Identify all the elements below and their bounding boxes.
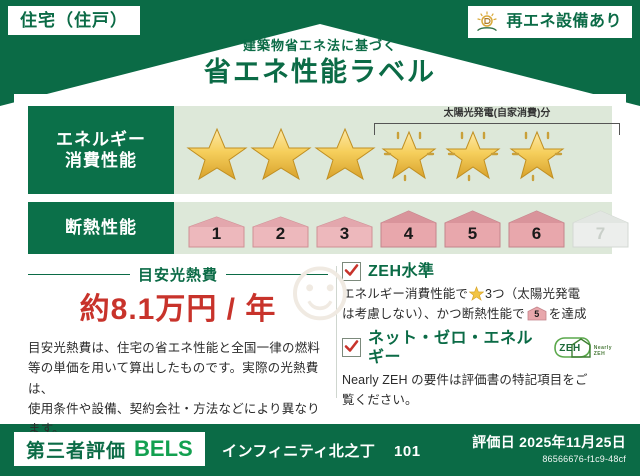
property-number: 101 (394, 443, 421, 460)
category-tag: 住宅（住戸） (8, 6, 140, 35)
label-lower-section: 目安光熱費 約8.1万円 / 年 目安光熱費は、住宅の省エネ性能と全国一律の燃料… (28, 262, 612, 406)
zeh-body-part-a: エネルギー消費性能で (342, 287, 468, 301)
insulation-level-5: 5 (442, 207, 503, 249)
cost-note-line-1: 目安光熱費は、住宅の省エネ性能と全国一律の燃料 (28, 338, 328, 358)
zeh-standard-label: ZEH水準 (368, 262, 435, 281)
insulation-level-1: 1 (186, 213, 247, 249)
energy-key-line1: エネルギー (56, 129, 146, 150)
page-title: 省エネ性能ラベル (0, 56, 640, 90)
sun-solar-icon (474, 11, 500, 33)
energy-performance-label: 住宅（住戸） 再エネ設備あり 建築物省エネ法に基づく 省エネ性能ラベル ☺ エネ… (0, 0, 640, 476)
renewable-equipment-badge: 再エネ設備あり (468, 6, 632, 38)
insulation-level-number: 2 (250, 224, 311, 244)
insulation-level-7: 7 (570, 207, 631, 249)
utility-cost-title: 目安光熱費 (138, 264, 218, 285)
zeh-logo-subtext: Nearly ZEH (594, 346, 612, 360)
bels-jp-label: 第三者評価 (26, 436, 126, 463)
zeh-section: ZEH水準 エネルギー消費性能で3つ（太陽光発電 は考慮しない）、かつ断熱性能で… (328, 262, 612, 406)
zeh-body-part-b: 3つ（太陽光発電 (485, 287, 580, 301)
insulation-level-2: 2 (250, 213, 311, 249)
solar-portion-bracket: 太陽光発電(自家消費)分 (372, 108, 622, 136)
net-zero-body: Nearly ZEH の要件は評価書の特記項目をご 覧ください。 (342, 370, 612, 411)
insulation-level-6: 6 (506, 207, 567, 249)
star-icon (314, 123, 376, 183)
zeh-logo-sub-line2: ZEH (594, 351, 606, 357)
energy-key-line2: 消費性能 (65, 150, 137, 171)
zeh-standard-body: エネルギー消費性能で3つ（太陽光発電 は考慮しない）、かつ断熱性能で5を達成 (342, 284, 612, 325)
zeh-standard-title-row: ZEH水準 (342, 262, 612, 281)
label-card: ☺ エネルギー 消費性能 (14, 94, 626, 416)
energy-performance-row: エネルギー 消費性能 (28, 106, 612, 194)
utility-cost-heading: 目安光熱費 (28, 264, 328, 285)
property-name: インフィニティ北之丁 (222, 443, 375, 460)
net-zero-energy-block: ネット・ゼロ・エネルギー ZEH Nearly ZEH (342, 329, 612, 411)
solar-bracket-label: 太陽光発電(自家消費)分 (372, 108, 622, 119)
label-title-group: 建築物省エネ法に基づく 省エネ性能ラベル (0, 38, 640, 89)
net-zero-body-line-2: 覧ください。 (342, 390, 612, 410)
insulation-level-scale: 1 2 3 4 (174, 207, 631, 249)
rule-left-decoration (28, 274, 130, 275)
insulation-level-number: 5 (442, 224, 503, 244)
bracket-line-decoration (374, 123, 620, 135)
svg-text:ZEH: ZEH (559, 343, 581, 354)
insulation-performance-row: 断熱性能 1 2 3 (28, 202, 612, 254)
net-zero-label: ネット・ゼロ・エネルギー (368, 329, 541, 367)
title-subtitle: 建築物省エネ法に基づく (0, 38, 640, 54)
bels-badge: 第三者評価 BELS (14, 432, 205, 466)
star-icon (469, 286, 484, 301)
zeh-logo-icon: ZEH Nearly ZEH (551, 336, 612, 360)
cost-note-line-2: 等の単価を用いて算出したものです。実際の光熱費は、 (28, 358, 328, 399)
insulation-level-4: 4 (378, 207, 439, 249)
net-zero-body-line-1: Nearly ZEH の要件は評価書の特記項目をご (342, 370, 612, 390)
bels-en-label: BELS (134, 436, 193, 462)
insulation-level-3: 3 (314, 213, 375, 249)
star-icon (250, 123, 312, 183)
insulation-level-number: 6 (506, 224, 567, 244)
utility-cost-value: 約8.1万円 / 年 (28, 293, 328, 326)
utility-cost-section: 目安光熱費 約8.1万円 / 年 目安光熱費は、住宅の省エネ性能と全国一律の燃料… (28, 262, 328, 406)
energy-performance-value: 太陽光発電(自家消費)分 (174, 106, 612, 194)
insulation-level-number: 3 (314, 224, 375, 244)
evaluation-info: 評価日 2025年11月25日 86566676-f1c9-48cf (472, 432, 626, 464)
insulation-level-number: 4 (378, 224, 439, 244)
net-zero-title-row: ネット・ゼロ・エネルギー ZEH Nearly ZEH (342, 329, 612, 367)
evaluation-id: 86566676-f1c9-48cf (472, 454, 626, 464)
insulation-performance-value: 1 2 3 4 (174, 202, 631, 254)
checkmark-icon (342, 338, 361, 357)
insulation-level-number: 1 (186, 224, 247, 244)
insulation-performance-key: 断熱性能 (28, 202, 174, 254)
renewable-badge-label: 再エネ設備あり (506, 14, 622, 30)
insulation-badge-icon: 5 (527, 306, 547, 321)
property-info: インフィニティ北之丁 101 (222, 440, 421, 461)
footer-bar: 第三者評価 BELS インフィニティ北之丁 101 評価日 2025年11月25… (0, 424, 640, 476)
checkmark-icon (342, 262, 361, 281)
star-icon (186, 123, 248, 183)
evaluation-date: 評価日 2025年11月25日 (472, 432, 626, 452)
rule-right-decoration (226, 274, 328, 275)
zeh-body-part-c: は考慮しない）、かつ断熱性能で (342, 307, 525, 321)
energy-performance-key: エネルギー 消費性能 (28, 106, 174, 194)
zeh-body-part-d: を達成 (549, 307, 587, 321)
insulation-level-number: 7 (570, 224, 631, 244)
zeh-standard-block: ZEH水準 エネルギー消費性能で3つ（太陽光発電 は考慮しない）、かつ断熱性能で… (342, 262, 612, 325)
insulation-badge-number: 5 (527, 307, 547, 322)
